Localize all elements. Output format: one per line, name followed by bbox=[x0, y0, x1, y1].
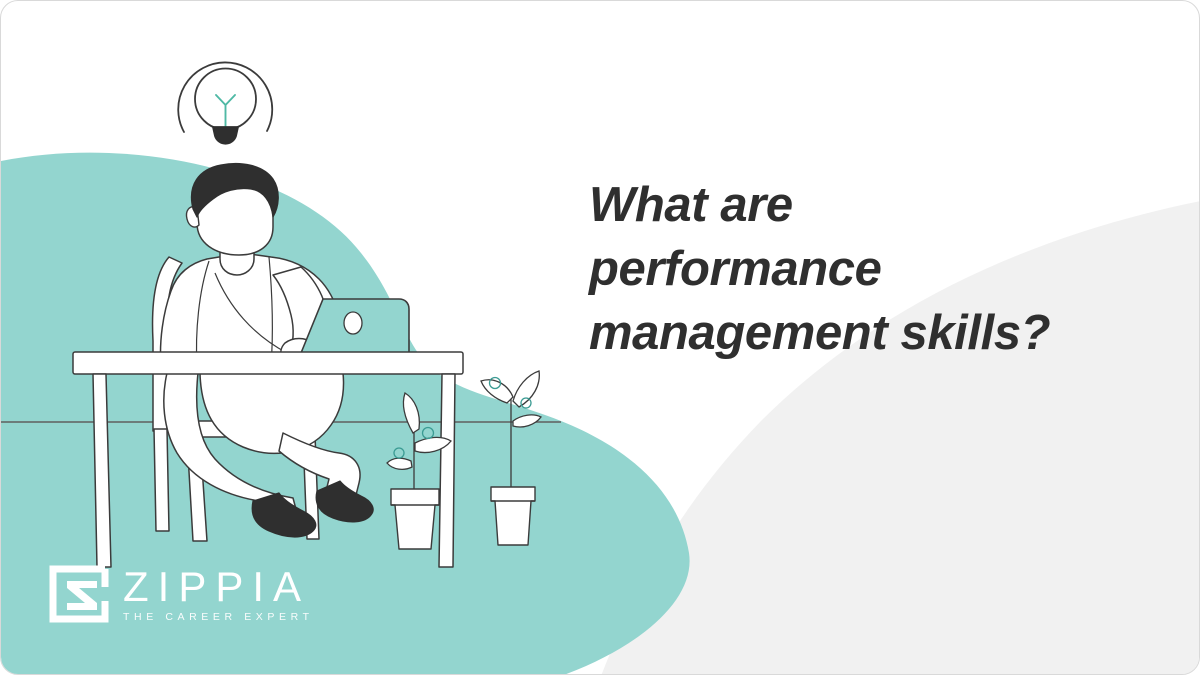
zippia-z-mark bbox=[47, 563, 109, 625]
potted-plant-right bbox=[481, 371, 541, 545]
laptop-logo bbox=[344, 312, 362, 334]
brand-tagline: THE CAREER EXPERT bbox=[123, 610, 314, 624]
idea-lightbulb-icon bbox=[178, 62, 272, 143]
zippia-logo[interactable]: ZIPPIA THE CAREER EXPERT bbox=[47, 563, 314, 625]
plant-right-pot bbox=[491, 487, 535, 545]
person-thigh bbox=[200, 373, 344, 453]
shoe-right bbox=[316, 481, 373, 522]
desk-leg-left bbox=[93, 374, 111, 567]
plant-right-leaf-a bbox=[513, 371, 539, 407]
plant-right-leaf-b bbox=[481, 380, 513, 403]
plant-left-leaf-c bbox=[387, 458, 412, 469]
brand-name: ZIPPIA bbox=[123, 565, 314, 609]
plant-left-dot-a bbox=[423, 428, 434, 439]
desk-leg-right bbox=[439, 374, 455, 567]
zippia-wordmark: ZIPPIA THE CAREER EXPERT bbox=[123, 565, 314, 624]
plant-right-leaf-c bbox=[513, 415, 541, 427]
plant-left-dot-b bbox=[394, 448, 404, 458]
plant-left-pot bbox=[391, 489, 439, 549]
desk-top bbox=[73, 352, 463, 374]
hero-card: What are performance management skills? … bbox=[0, 0, 1200, 675]
page-title: What are performance management skills? bbox=[589, 173, 1149, 365]
plant-left-leaf-a bbox=[403, 393, 419, 433]
